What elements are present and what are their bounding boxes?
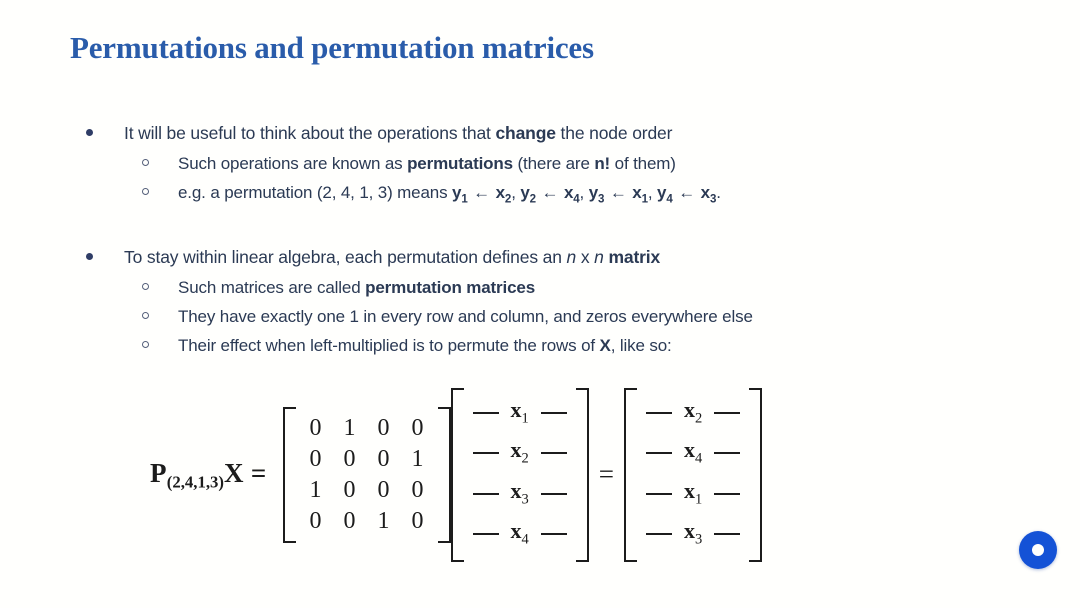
matrix-cell: 0 bbox=[299, 444, 333, 475]
sub-bullet-2-3-text: Their effect when left-multiplied is to … bbox=[178, 336, 672, 355]
bullet-marker-hollow-icon bbox=[142, 283, 149, 290]
matrix-row: x4 bbox=[640, 434, 746, 474]
bullet-group-2: To stay within linear algebra, each perm… bbox=[80, 242, 1000, 360]
assignment-separator: , bbox=[648, 183, 657, 202]
assignment-source: x1 bbox=[632, 183, 648, 202]
assignment-target: y4 bbox=[657, 183, 673, 202]
matrix-cell: 0 bbox=[333, 506, 367, 537]
bullet-level1-text: It will be useful to think about the ope… bbox=[124, 123, 672, 143]
row-dash-left-icon bbox=[467, 515, 505, 555]
sub-bullet-1-1-text: Such operations are known as permutation… bbox=[178, 154, 676, 173]
row-vector-label: x1 bbox=[678, 475, 708, 515]
matrix-cell: 0 bbox=[299, 413, 333, 444]
matrix-row: x3 bbox=[640, 515, 746, 555]
assignment-source: x2 bbox=[496, 183, 512, 202]
row-dash-left-icon bbox=[640, 394, 678, 434]
matrix-row: 0001 bbox=[299, 444, 435, 475]
matrix-cell: 0 bbox=[401, 506, 435, 537]
matrix-cell: 0 bbox=[401, 475, 435, 506]
assignment-arrow-icon: ← bbox=[604, 183, 632, 202]
permutation-assignments: y1 ← x2, y2 ← x4, y3 ← x1, y4 ← x3. bbox=[452, 183, 721, 202]
sub-bullet-2-3: Their effect when left-multiplied is to … bbox=[80, 331, 1000, 360]
x-matrix-table: x1x2x3x4 bbox=[467, 394, 573, 556]
matrix-row: 0100 bbox=[299, 413, 435, 444]
row-dash-left-icon bbox=[640, 515, 678, 555]
row-vector-label: x3 bbox=[505, 475, 535, 515]
matrix-equation: P(2,4,1,3)X = 0100000110000010 x1x2x3x4 … bbox=[150, 388, 762, 562]
assignment-separator: , bbox=[511, 183, 520, 202]
sub-bullet-2-2-text: They have exactly one 1 in every row and… bbox=[178, 307, 753, 326]
slide-canvas: Permutations and permutation matrices It… bbox=[0, 0, 1080, 608]
assignment-arrow-icon: ← bbox=[468, 183, 496, 202]
bullet-level1: To stay within linear algebra, each perm… bbox=[80, 242, 1000, 273]
bullet-marker-filled-icon bbox=[86, 129, 93, 136]
matrix-row: 0010 bbox=[299, 506, 435, 537]
sub-bullet-1-2-text: e.g. a permutation (2, 4, 1, 3) means bbox=[178, 183, 452, 202]
sub-bullet-2-1: Such matrices are called permutation mat… bbox=[80, 273, 1000, 302]
matrix-cell: 0 bbox=[367, 413, 401, 444]
row-dash-right-icon bbox=[708, 515, 746, 555]
permutation-matrix-table: 0100000110000010 bbox=[299, 413, 435, 537]
row-dash-right-icon bbox=[535, 394, 573, 434]
matrix-row: x3 bbox=[467, 475, 573, 515]
matrix-cell: 1 bbox=[333, 413, 367, 444]
row-dash-left-icon bbox=[640, 475, 678, 515]
page-title: Permutations and permutation matrices bbox=[70, 30, 594, 66]
permutation-matrix: 0100000110000010 bbox=[283, 407, 451, 543]
result-matrix-table: x2x4x1x3 bbox=[640, 394, 746, 556]
row-dash-left-icon bbox=[640, 434, 678, 474]
assignment-target: y1 bbox=[452, 183, 468, 202]
row-dash-right-icon bbox=[535, 475, 573, 515]
assignment-target: y2 bbox=[520, 183, 536, 202]
sub-bullet-1-1: Such operations are known as permutation… bbox=[80, 149, 1000, 178]
matrix-cell: 0 bbox=[367, 475, 401, 506]
row-dash-left-icon bbox=[467, 434, 505, 474]
bullet-group-1: It will be useful to think about the ope… bbox=[80, 118, 1000, 214]
row-dash-left-icon bbox=[467, 394, 505, 434]
assignment-arrow-icon: ← bbox=[536, 183, 564, 202]
matrix-cell: 1 bbox=[299, 475, 333, 506]
assignment-separator: , bbox=[580, 183, 589, 202]
matrix-cell: 0 bbox=[333, 475, 367, 506]
row-vector-label: x1 bbox=[505, 394, 535, 434]
matrix-row: x1 bbox=[467, 394, 573, 434]
equals-sign-1: = bbox=[251, 458, 267, 488]
slide-body: It will be useful to think about the ope… bbox=[80, 118, 1000, 360]
sub-bullet-2-2: They have exactly one 1 in every row and… bbox=[80, 302, 1000, 331]
row-dash-right-icon bbox=[535, 515, 573, 555]
bullet-level1: It will be useful to think about the ope… bbox=[80, 118, 1000, 149]
row-vector-label: x3 bbox=[678, 515, 708, 555]
bullet-level1-text: To stay within linear algebra, each perm… bbox=[124, 247, 660, 267]
matrix-row: x1 bbox=[640, 475, 746, 515]
row-vector-label: x4 bbox=[678, 434, 708, 474]
x-matrix: x1x2x3x4 bbox=[451, 388, 589, 562]
sub-bullet-2-1-text: Such matrices are called permutation mat… bbox=[178, 278, 535, 297]
matrix-cell: 0 bbox=[299, 506, 333, 537]
assignment-target: y3 bbox=[589, 183, 605, 202]
matrix-row: x2 bbox=[640, 394, 746, 434]
bullet-marker-hollow-icon bbox=[142, 341, 149, 348]
p-subscript: (2,4,1,3) bbox=[167, 472, 224, 491]
matrix-cell: 0 bbox=[367, 444, 401, 475]
equation-left-hand-side: P(2,4,1,3)X = bbox=[150, 458, 267, 492]
bullet-marker-hollow-icon bbox=[142, 159, 149, 166]
logo-inner-hole bbox=[1032, 544, 1044, 556]
x-symbol: X bbox=[224, 458, 244, 488]
row-vector-label: x4 bbox=[505, 515, 535, 555]
matrix-cell: 0 bbox=[333, 444, 367, 475]
matrix-row: x2 bbox=[467, 434, 573, 474]
bullet-marker-filled-icon bbox=[86, 253, 93, 260]
matrix-cell: 0 bbox=[401, 413, 435, 444]
assignment-source: x3 bbox=[701, 183, 717, 202]
assignment-arrow-icon: ← bbox=[673, 183, 701, 202]
matrix-row: x4 bbox=[467, 515, 573, 555]
assignment-source: x4 bbox=[564, 183, 580, 202]
blue-ring-logo-icon[interactable] bbox=[1019, 531, 1057, 569]
equals-sign-2: = bbox=[599, 459, 614, 490]
row-dash-right-icon bbox=[708, 475, 746, 515]
bullet-marker-hollow-icon bbox=[142, 312, 149, 319]
result-matrix: x2x4x1x3 bbox=[624, 388, 762, 562]
row-dash-right-icon bbox=[535, 434, 573, 474]
bullet-marker-hollow-icon bbox=[142, 188, 149, 195]
row-dash-left-icon bbox=[467, 475, 505, 515]
sub-bullet-1-2: e.g. a permutation (2, 4, 1, 3) means y1… bbox=[80, 178, 1000, 214]
row-dash-right-icon bbox=[708, 394, 746, 434]
assignment-separator: . bbox=[716, 183, 721, 202]
row-vector-label: x2 bbox=[505, 434, 535, 474]
row-dash-right-icon bbox=[708, 434, 746, 474]
row-vector-label: x2 bbox=[678, 394, 708, 434]
matrix-row: 1000 bbox=[299, 475, 435, 506]
matrix-cell: 1 bbox=[367, 506, 401, 537]
matrix-cell: 1 bbox=[401, 444, 435, 475]
group-spacer bbox=[80, 214, 1000, 242]
p-symbol: P bbox=[150, 458, 167, 488]
